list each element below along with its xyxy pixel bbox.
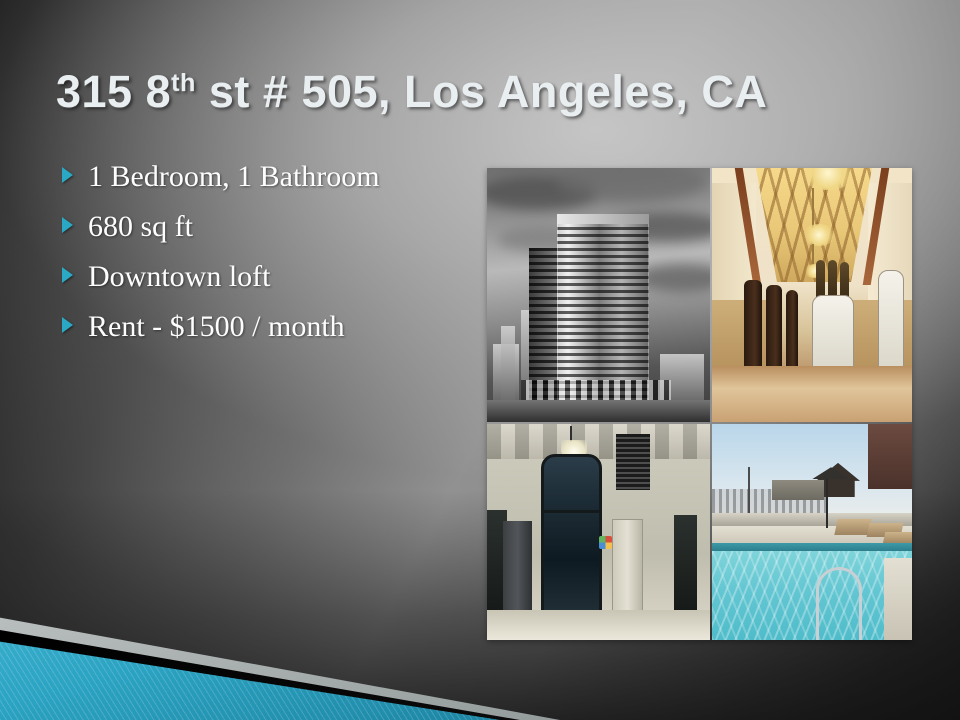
- slide-title-prefix: 315 8: [56, 66, 171, 117]
- bullet-list: 1 Bedroom, 1 Bathroom 680 sq ft Downtown…: [62, 160, 472, 360]
- slide-title-suffix: st # 505, Los Angeles, CA: [196, 66, 768, 117]
- decoration-teal-wedge: [0, 580, 500, 720]
- bullet-item-label: 680 sq ft: [88, 210, 193, 244]
- bullet-item-label: Rent - $1500 / month: [88, 310, 345, 344]
- triangle-right-icon: [62, 167, 88, 188]
- bullet-item-rent: Rent - $1500 / month: [62, 310, 472, 360]
- triangle-right-icon: [62, 317, 88, 338]
- lobby-hallway-photo: [712, 168, 912, 422]
- slide-title-superscript: th: [171, 69, 196, 97]
- building-entrance-photo: [487, 424, 710, 640]
- bullet-item-bedroom-bathroom: 1 Bedroom, 1 Bathroom: [62, 160, 472, 210]
- rooftop-pool-photo: [712, 424, 912, 640]
- decoration-black-band: [0, 570, 520, 720]
- bullet-item-square-feet: 680 sq ft: [62, 210, 472, 260]
- bullet-item-label: Downtown loft: [88, 260, 271, 294]
- bullet-item-downtown-loft: Downtown loft: [62, 260, 472, 310]
- decoration-silver-band: [0, 560, 560, 720]
- slide-title: 315 8th st # 505, Los Angeles, CA: [56, 56, 896, 128]
- triangle-right-icon: [62, 217, 88, 238]
- historic-tower-exterior-photo: [487, 168, 710, 422]
- photo-collage: [487, 168, 912, 640]
- bullet-item-label: 1 Bedroom, 1 Bathroom: [88, 160, 380, 194]
- presentation-slide: 315 8th st # 505, Los Angeles, CA 1 Bedr…: [0, 0, 960, 720]
- triangle-right-icon: [62, 267, 88, 288]
